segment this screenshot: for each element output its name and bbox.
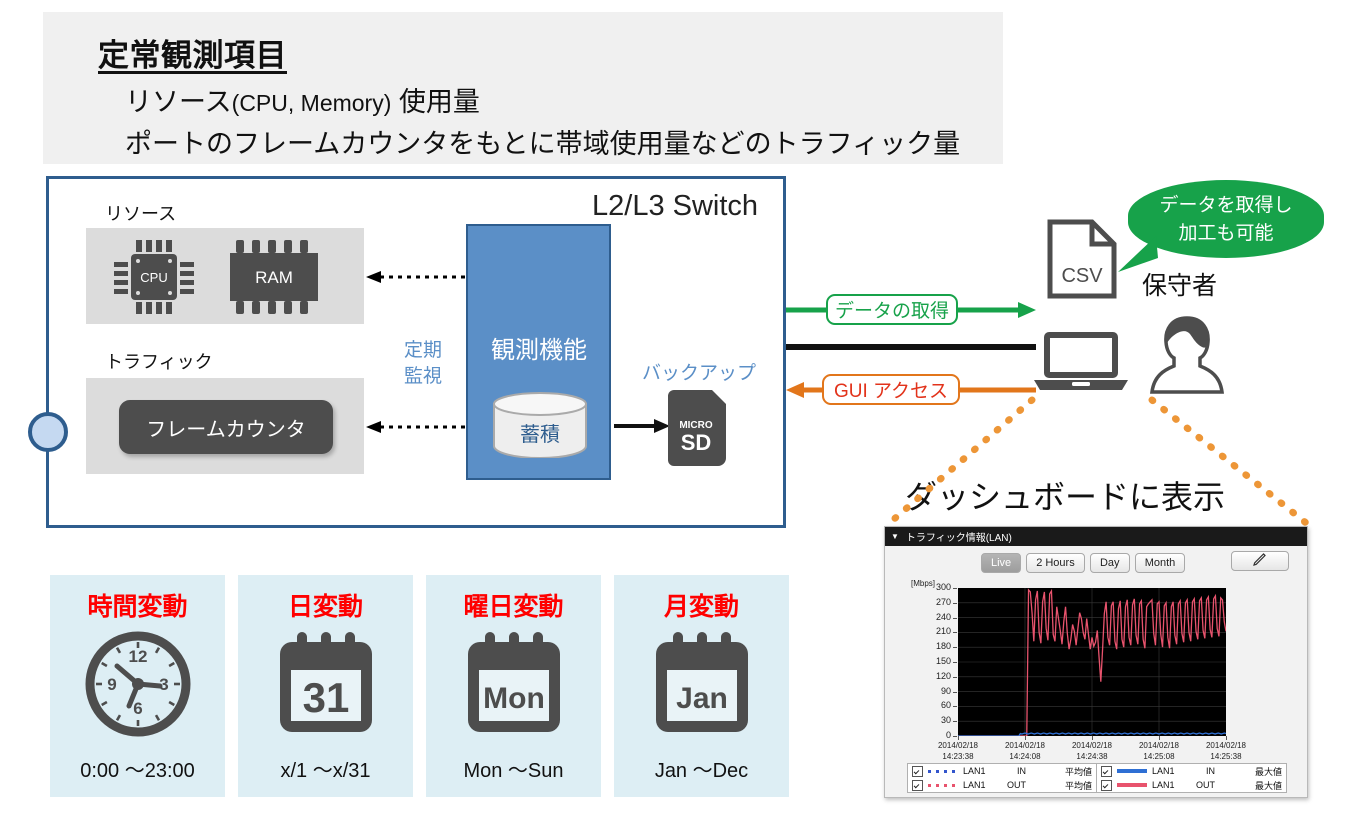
microsd-card-icon: MICRO SD [668,390,732,466]
svg-text:12: 12 [128,647,147,666]
chart-y-tick-mark [953,647,957,648]
chart-y-tick-label: 210 [921,626,951,636]
chart-y-tick-label: 30 [921,715,951,725]
variation-card-range: x/1 〜x/31 [238,754,413,783]
periodic-line1: 定期 [404,340,442,361]
chart-y-tick-label: 240 [921,612,951,622]
legend-direction: IN [1191,766,1215,776]
legend-port-name: LAN1 [1152,780,1186,790]
chart-y-tick-label: 300 [921,582,951,592]
variation-card-title: 日変動 [238,587,413,623]
legend-color-swatch [928,784,958,787]
dashboard-callout-title: ダッシュボードに表示 [905,472,1225,518]
network-link-line [786,344,1036,350]
header-band: 定常観測項目 リソース(CPU, Memory) 使用量 ポートのフレームカウン… [43,12,1003,164]
range-button-live[interactable]: Live [981,553,1021,573]
legend-color-swatch [1117,783,1147,787]
periodic-line2: 監視 [404,366,442,387]
chart-x-tick-mark [1025,736,1026,740]
chart-y-tick-mark [953,736,957,737]
chart-y-tick-mark [953,692,957,693]
ram-icon: RAM [226,238,322,316]
calendar-face-text: Mon [483,682,545,715]
chart-x-tick-label: 2014/02/1814:23:38 [929,740,987,762]
pencil-icon [1253,552,1267,571]
chart-y-tick-label: 90 [921,686,951,696]
chart-y-tick-mark [953,603,957,604]
legend-direction: OUT [1191,780,1215,790]
legend-checkbox[interactable] [912,780,923,791]
legend-direction: IN [1002,766,1026,776]
header-resource-main: リソース [125,87,232,117]
variation-card-range: 0:00 〜23:00 [50,754,225,783]
variation-card-title: 月変動 [614,587,789,623]
periodic-monitor-label: 定期 監視 [394,338,452,390]
variation-card-range: Jan 〜Dec [614,754,789,783]
dashboard-titlebar: ▼ トラフィック情報(LAN) [885,527,1307,546]
legend-port-name: LAN1 [963,766,997,776]
legend-stat: 最大値 [1220,765,1282,778]
chart-y-tick-mark [953,721,957,722]
legend-color-swatch [1117,769,1147,773]
ram-label: RAM [255,268,293,287]
chart-y-tick-label: 270 [921,597,951,607]
chart-y-tick-mark [953,632,957,633]
dashboard-panel: ▼ トラフィック情報(LAN) Live 2 Hours Day Month [… [884,526,1308,798]
traffic-section-label: トラフィック [105,348,213,374]
sd-sd-label: SD [681,430,712,455]
range-button-2hours[interactable]: 2 Hours [1026,553,1085,573]
legend-stat: 平均値 [1031,765,1092,778]
legend-item[interactable]: LAN1OUT平均値 [908,778,1097,792]
calendar-face-text: 31 [302,674,349,721]
chart-y-tick-mark [953,588,957,589]
clock-icon: 12 6 9 3 [50,629,225,739]
calendar-day-icon: 31 [238,629,413,739]
chart-y-tick-label: 60 [921,700,951,710]
chart-x-tick-mark [1092,736,1093,740]
chart-x-tick-label: 2014/02/1814:24:08 [996,740,1054,762]
dashboard-window-title: トラフィック情報(LAN) [906,529,1012,544]
chart-x-tick-mark [1159,736,1160,740]
chart-x-tick-mark [1226,736,1227,740]
monitor-arrow-resource-icon [366,270,470,282]
person-icon [1150,316,1224,394]
chart-y-tick-label: 150 [921,656,951,666]
chart-y-tick-mark [953,677,957,678]
header-resource-tail: 使用量 [399,87,480,117]
chart-y-tick-label: 120 [921,671,951,681]
calendar-face-text: Jan [676,682,728,715]
chart-x-tick-label: 2014/02/1814:24:38 [1063,740,1121,762]
get-data-label: データの取得 [826,294,958,325]
legend-port-name: LAN1 [963,780,997,790]
bubble-line-2: 加工も可能 [1178,223,1273,244]
legend-stat: 平均値 [1031,779,1092,792]
svg-text:6: 6 [133,699,142,718]
range-button-month[interactable]: Month [1135,553,1186,573]
variation-card-weekday: 曜日変動 Mon Mon 〜Sun [426,575,601,797]
legend-item[interactable]: LAN1OUT最大値 [1097,778,1286,792]
bubble-line-1: データを取得し [1159,195,1292,216]
legend-stat: 最大値 [1220,779,1282,792]
chart-svg [958,588,1226,736]
legend-direction: OUT [1002,780,1026,790]
resource-section-label: リソース [105,200,176,226]
chart-legend: LAN1IN平均値LAN1IN最大値LAN1OUT平均値LAN1OUT最大値 [907,763,1287,793]
chart-plot-area [958,588,1226,736]
legend-color-swatch [928,770,958,773]
header-line-resource: リソース(CPU, Memory) 使用量 [125,80,480,119]
chart-x-tick-mark [958,736,959,740]
chart-x-tick-label: 2014/02/1814:25:38 [1197,740,1255,762]
cpu-label: CPU [140,270,167,285]
legend-port-name: LAN1 [1152,766,1186,776]
chart-y-tick-label: 180 [921,641,951,651]
chart-y-tick-mark [953,662,957,663]
variation-card-range: Mon 〜Sun [426,754,601,783]
variation-card-day: 日変動 31 x/1 〜x/31 [238,575,413,797]
legend-item[interactable]: LAN1IN最大値 [1097,764,1286,778]
observation-function-label: 観測機能 [478,330,600,365]
laptop-icon [1032,330,1130,392]
legend-checkbox[interactable] [912,766,923,777]
page-title: 定常観測項目 [98,30,287,75]
backup-arrow-icon [614,418,670,434]
switch-title: L2/L3 Switch [592,190,758,223]
chart-y-tick-label: 0 [921,730,951,740]
storage-label: 蓄積 [492,418,588,447]
calendar-week-icon: Mon [426,629,601,739]
monitor-arrow-traffic-icon [366,420,470,432]
cpu-icon: CPU [110,238,200,316]
edit-button[interactable] [1231,551,1289,571]
backup-label: バックアップ [642,358,756,385]
header-resource-paren: (CPU, Memory) [232,90,392,116]
chart-y-tick-mark [953,618,957,619]
variation-card-title: 時間変動 [50,587,225,623]
switch-port-icon [28,412,68,452]
variation-card-title: 曜日変動 [426,587,601,623]
header-line-traffic: ポートのフレームカウンタをもとに帯域使用量などのトラフィック量 [125,122,960,161]
chart-x-tick-label: 2014/02/1814:25:08 [1130,740,1188,762]
calendar-month-icon: Jan [614,629,789,739]
csv-file-icon: CSV [1046,218,1118,300]
legend-item[interactable]: LAN1IN平均値 [908,764,1097,778]
frame-counter-box: フレームカウンタ [119,400,333,454]
variation-card-month: 月変動 Jan Jan 〜Dec [614,575,789,797]
caret-down-icon[interactable]: ▼ [891,533,899,541]
csv-label: CSV [1061,265,1103,287]
maintainer-label: 保守者 [1142,266,1217,302]
range-button-day[interactable]: Day [1090,553,1130,573]
green-callout-text: データを取得し 加工も可能 [1128,192,1324,248]
legend-checkbox[interactable] [1101,780,1112,791]
svg-text:9: 9 [107,675,116,694]
chart-y-tick-mark [953,706,957,707]
variation-card-hour: 時間変動 12 6 9 3 0:00 〜23:00 [50,575,225,797]
gui-access-label: GUI アクセス [822,374,960,405]
legend-checkbox[interactable] [1101,766,1112,777]
